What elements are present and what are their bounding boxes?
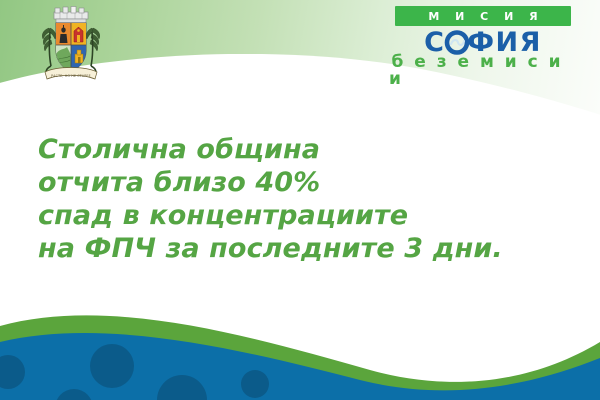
headline-line-4: на ФПЧ за последните 3 дни.: [38, 232, 558, 265]
logo-misiya-bar: М И С И Я: [395, 6, 571, 26]
svg-text:РАСТЕ, НО НЕ СТАРЕЕ: РАСТЕ, НО НЕ СТАРЕЕ: [51, 74, 91, 78]
poster-canvas: РАСТЕ, НО НЕ СТАРЕЕ М И С И Я С ФИЯ б е …: [0, 0, 600, 400]
headline-line-3: спад в концентрациите: [38, 199, 558, 232]
mission-sofia-logo: М И С И Я С ФИЯ б е з е м и с и и: [389, 6, 577, 84]
logo-misiya-text: М И С И Я: [422, 11, 543, 22]
footer-wave-svg: [0, 280, 600, 400]
footer-wave-decoration: [0, 280, 600, 400]
headline-line-1: Столична община: [38, 133, 558, 166]
logo-bez-emisii: б е з е м и с и и: [389, 58, 577, 84]
headline-block: Столична община отчита близо 40% спад в …: [38, 133, 558, 265]
headline-line-2: отчита близо 40%: [38, 166, 558, 199]
logo-bez-emisii-text: б е з е м и с и и: [389, 54, 577, 88]
sofia-coat-of-arms-icon: РАСТЕ, НО НЕ СТАРЕЕ: [33, 4, 109, 88]
footer-blue-wave: [0, 333, 600, 400]
